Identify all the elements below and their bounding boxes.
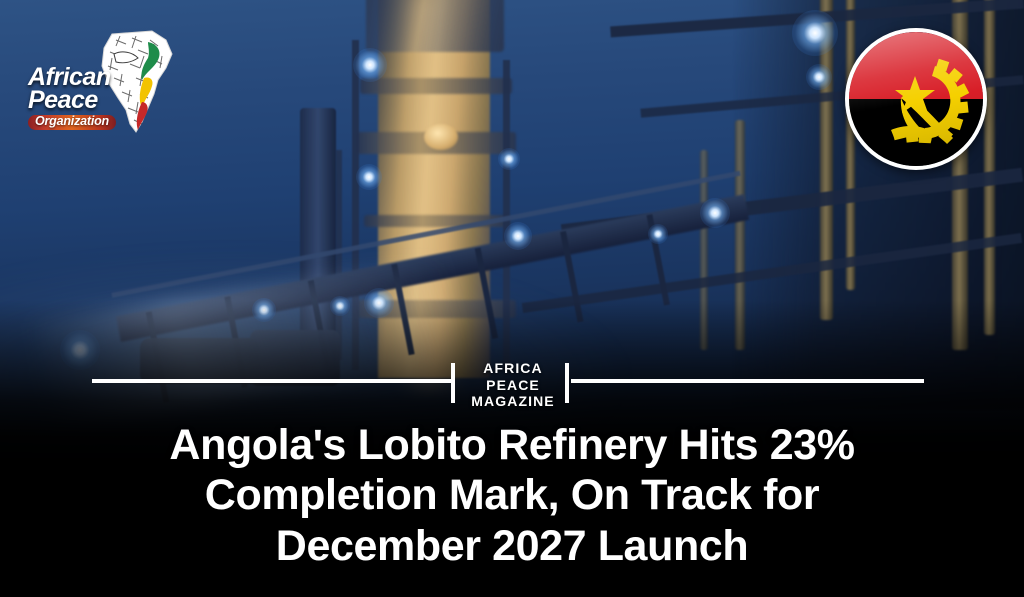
magazine-line-peace: PEACE [462,377,564,394]
work-lamp [498,148,520,170]
headline-line-2: Completion Mark, On Track for [60,470,964,520]
work-lamp [806,64,832,90]
work-lamp [504,222,532,250]
work-lamp [648,224,668,244]
logo-line-peace: Peace [28,89,148,112]
logo-line-organization: Organization [28,115,116,130]
headline: Angola's Lobito Refinery Hits 23% Comple… [0,420,1024,571]
divider-rule-right [571,379,924,383]
work-lamp [700,198,730,228]
work-lamp [356,164,382,190]
african-peace-organization-logo[interactable]: African Peace Organization [28,28,188,140]
angola-flag-icon[interactable] [845,28,987,170]
news-banner: African Peace Organization [0,0,1024,597]
divider-tick-right [565,363,569,403]
pipe-column [984,0,995,335]
headline-line-1: Angola's Lobito Refinery Hits 23% [60,420,964,470]
divider-rule-left [92,379,452,383]
divider-tick-left [451,363,455,403]
tower-platform [360,78,512,94]
work-lamp [792,10,838,56]
magazine-mark: AFRICA PEACE MAGAZINE [462,360,564,410]
work-lamp [353,48,387,82]
tower-top-platform [366,0,504,52]
magazine-line-africa: AFRICA [462,360,564,377]
magazine-line-magazine: MAGAZINE [462,393,564,410]
tower-vessel-knob [424,124,458,150]
headline-line-3: December 2027 Launch [60,521,964,571]
badge-gloss [849,32,983,166]
logo-wordmark: African Peace Organization [28,66,148,130]
